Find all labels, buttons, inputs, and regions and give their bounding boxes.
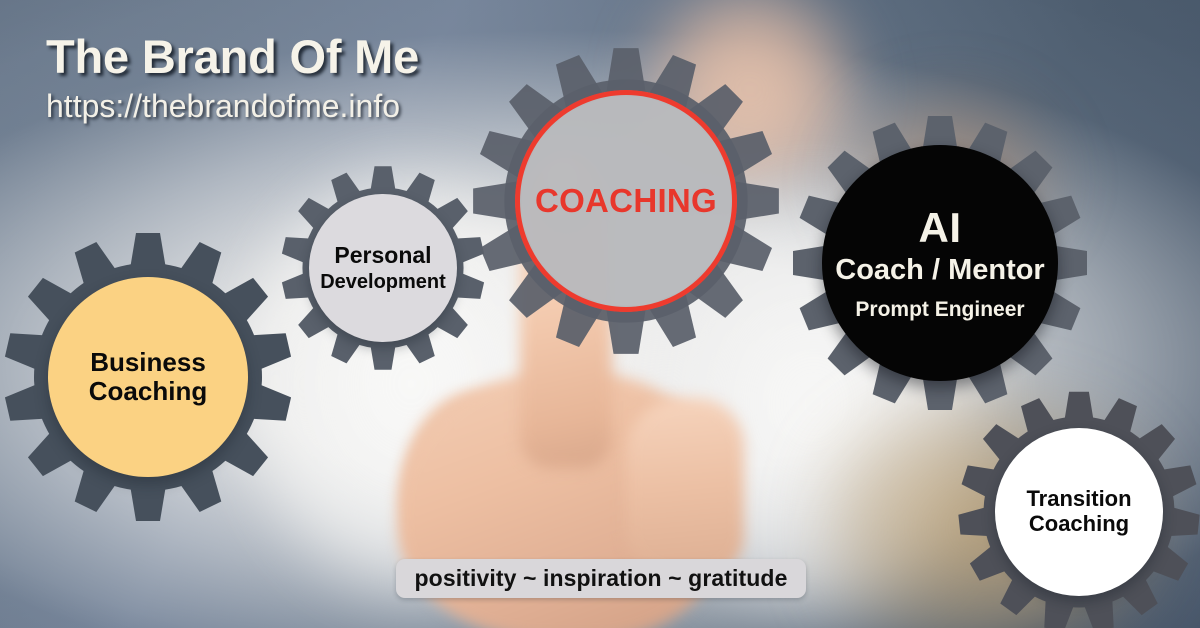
gear-label-line-3: Prompt Engineer [855, 298, 1024, 322]
gear-business-coaching[interactable]: Business Coaching [0, 224, 298, 530]
gear-label-line-2: Coaching [89, 377, 207, 406]
gear-coaching[interactable]: COACHING [470, 42, 782, 360]
tagline-badge: positivity ~ inspiration ~ gratitude [396, 559, 806, 598]
gear-label-line-1: AI [919, 204, 962, 251]
gear-label-line-2: Coach / Mentor [835, 254, 1044, 286]
tagline-text: positivity ~ inspiration ~ gratitude [415, 565, 788, 592]
gear-personal-development[interactable]: Personal Development [277, 160, 489, 376]
gear-hub-ai: AI Coach / Mentor Prompt Engineer [822, 145, 1058, 381]
gear-label-line-1: Transition [1026, 487, 1131, 512]
gear-label-line-1: COACHING [535, 183, 717, 220]
gear-hub-coaching: COACHING [515, 90, 737, 312]
gear-hub-business-coaching: Business Coaching [48, 277, 248, 477]
page-title: The Brand Of Me [46, 32, 419, 82]
gear-ai-coach-mentor[interactable]: AI Coach / Mentor Prompt Engineer [790, 110, 1090, 416]
gear-hub-transition-coaching: Transition Coaching [995, 428, 1163, 596]
gear-label-line-2: Coaching [1029, 512, 1129, 537]
gear-label-line-2: Development [320, 271, 446, 293]
brand-block: The Brand Of Me https://thebrandofme.inf… [46, 32, 419, 124]
gear-transition-coaching[interactable]: Transition Coaching [955, 386, 1200, 628]
brand-url: https://thebrandofme.info [46, 89, 419, 124]
graphic-canvas: The Brand Of Me https://thebrandofme.inf… [0, 0, 1200, 628]
gear-label-line-1: Personal [334, 243, 431, 269]
gear-hub-personal-development: Personal Development [309, 194, 457, 342]
gear-label-line-1: Business [90, 348, 206, 377]
